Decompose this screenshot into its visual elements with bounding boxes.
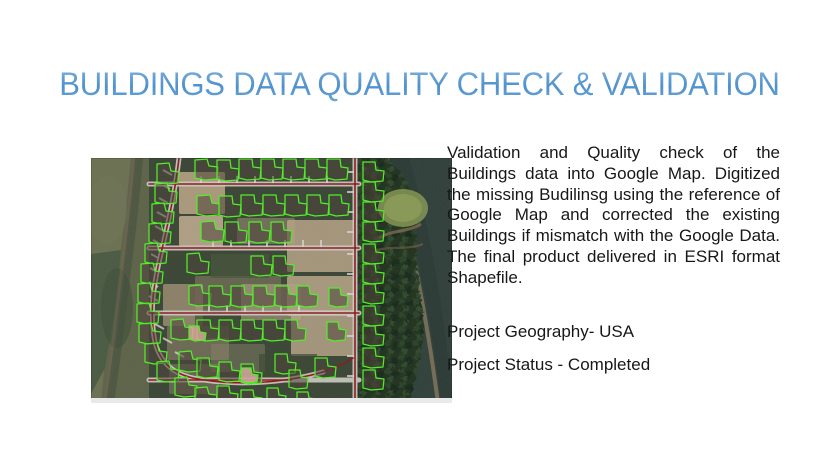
description-paragraph: Validation and Quality check of the Buil… xyxy=(447,143,780,309)
page-title: BUILDINGS DATA QUALITY CHECK & VALIDATIO… xyxy=(13,67,827,102)
project-geography-line: Project Geography- USA xyxy=(447,322,780,343)
slide-canvas: BUILDINGS DATA QUALITY CHECK & VALIDATIO… xyxy=(0,0,839,465)
aerial-imagery-canvas xyxy=(91,158,452,403)
description-text-column: Validation and Quality check of the Buil… xyxy=(447,143,780,376)
aerial-map-figure xyxy=(91,158,452,403)
project-status-line: Project Status - Completed xyxy=(447,355,780,376)
